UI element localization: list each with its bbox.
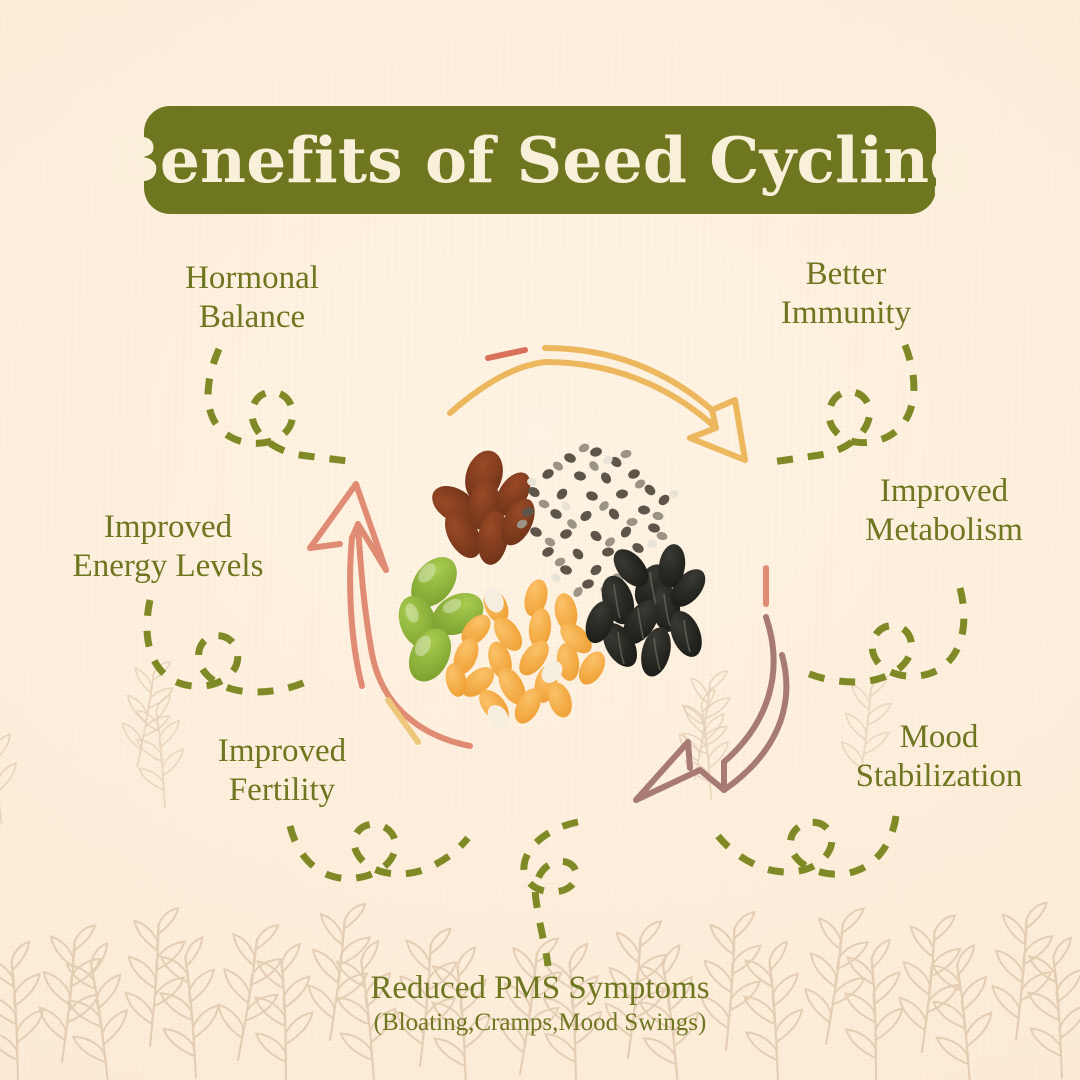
dashed-swirl-immunity: [772, 345, 914, 462]
sunflower-seed-stripes: [614, 572, 690, 670]
flax-seeds: [425, 446, 541, 567]
benefit-reduced-pms-symptoms: Reduced PMS Symptoms (Bloating,Cramps,Mo…: [290, 970, 790, 1038]
top-arrow: [450, 348, 745, 460]
benefit-label-line1: Better: [806, 256, 887, 292]
page-title: Benefits of Seed Cycling: [106, 129, 973, 192]
benefit-improved-metabolism: Improved Metabolism: [822, 472, 1066, 551]
benefit-label-line1: Improved: [218, 733, 346, 769]
benefit-label-line1: Improved: [104, 509, 232, 545]
dashed-swirl-metabolism: [798, 588, 964, 682]
benefit-improved-energy-levels: Improved Energy Levels: [36, 508, 300, 587]
benefit-label-line2: Energy Levels: [36, 547, 300, 586]
title-banner: Benefits of Seed Cycling: [144, 106, 936, 214]
infographic-canvas: Benefits of Seed Cycling: [0, 0, 1080, 1080]
top-arrow-tail-fleck: [488, 350, 525, 358]
benefit-mood-stabilization: Mood Stabilization: [812, 718, 1066, 797]
sesame-seeds-hulled: [480, 584, 566, 731]
benefit-hormonal-balance: Hormonal Balance: [130, 259, 374, 338]
sunflower-seeds: [580, 542, 712, 679]
benefit-label-main: Reduced PMS Symptoms: [290, 970, 790, 1008]
benefit-label-line2: Immunity: [726, 294, 966, 333]
benefit-label-line2: Metabolism: [822, 511, 1066, 550]
benefit-better-immunity: Better Immunity: [726, 255, 966, 334]
benefit-label-line2: Fertility: [168, 771, 396, 810]
pumpkin-seeds: [392, 548, 491, 688]
chia-seeds: [515, 442, 680, 599]
benefit-label-line1: Improved: [880, 473, 1008, 509]
benefit-label-line1: Mood: [900, 719, 979, 755]
dashed-swirl-hormonal: [208, 349, 356, 462]
benefit-label-line1: Hormonal: [185, 260, 319, 296]
right-arrow: [636, 617, 786, 800]
benefit-improved-fertility: Improved Fertility: [168, 732, 396, 811]
benefit-label-line2: Balance: [130, 298, 374, 337]
left-arrow: [310, 484, 470, 746]
dashed-squiggle-pms: [524, 822, 578, 966]
dashed-swirl-mood: [718, 816, 896, 874]
benefit-label-line2: Stabilization: [812, 757, 1066, 796]
dashed-swirl-fertility: [290, 824, 468, 878]
sesame-seeds: [443, 577, 611, 728]
dashed-swirl-energy: [147, 600, 312, 692]
benefit-label-sub: (Bloating,Cramps,Mood Swings): [290, 1008, 790, 1038]
